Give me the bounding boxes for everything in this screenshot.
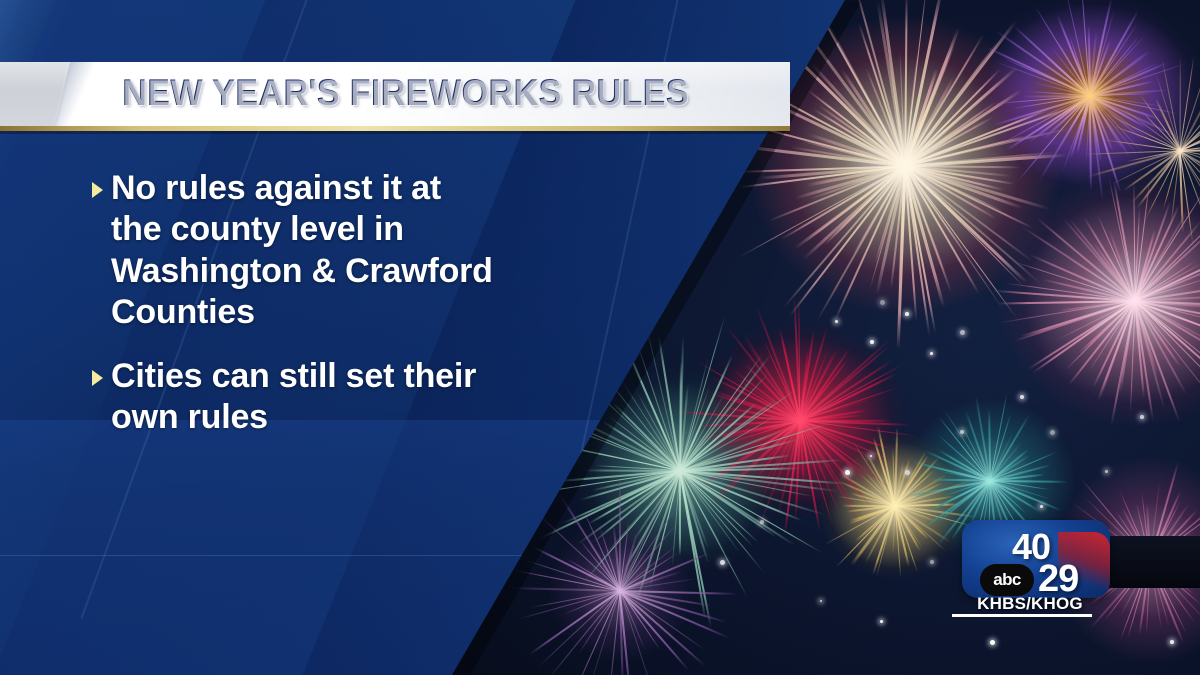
bug-blue-plate: 40 abc 29 <box>962 520 1110 598</box>
triangle-right-icon <box>92 182 103 198</box>
callsign-underline <box>952 614 1092 617</box>
page-title: NEW YEAR'S FIREWORKS RULES <box>122 72 689 114</box>
abc-logo-icon: abc <box>980 564 1034 596</box>
station-callsigns: KHBS/KHOG <box>960 594 1100 614</box>
banner-rule-shadow <box>0 131 790 134</box>
news-graphic-stage: NEW YEAR'S FIREWORKS RULES No rules agai… <box>0 0 1200 675</box>
bullet-list: No rules against it at the county level … <box>92 168 592 461</box>
bullet-text: No rules against it at the county level … <box>111 168 493 334</box>
bullet-text: Cities can still set their own rules <box>111 356 476 439</box>
triangle-right-icon <box>92 370 103 386</box>
list-item: No rules against it at the county level … <box>92 168 592 334</box>
abc-wordmark: abc <box>993 570 1021 590</box>
list-item: Cities can still set their own rules <box>92 356 592 439</box>
station-logo-bug: 40 abc 29 KHBS/KHOG <box>948 512 1200 620</box>
headline-banner: NEW YEAR'S FIREWORKS RULES <box>0 62 790 134</box>
